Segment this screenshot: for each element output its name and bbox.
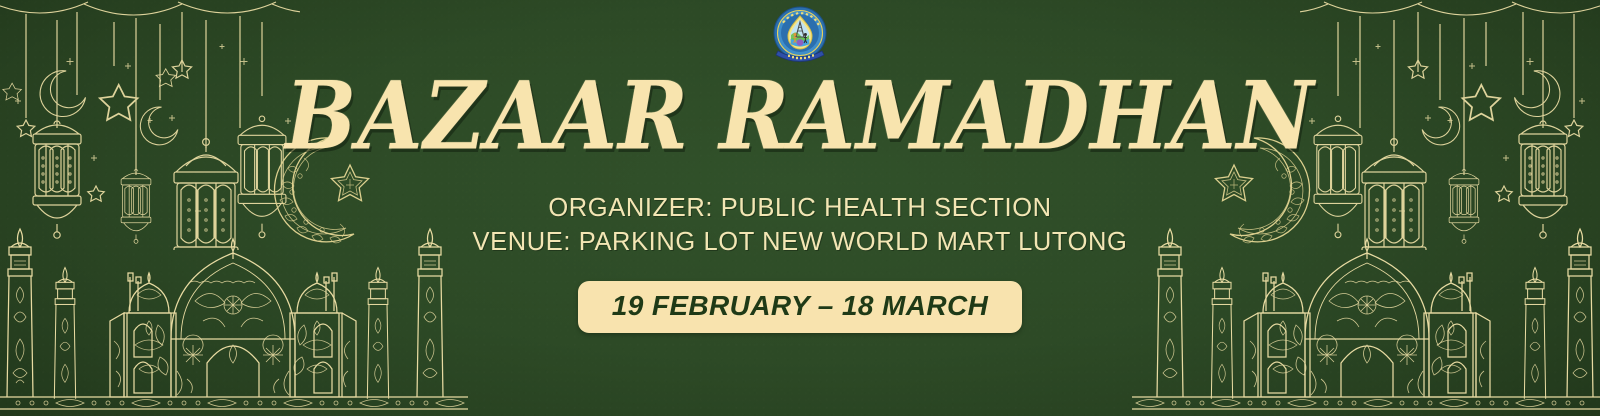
majlis-bandaraya-miri-emblem-icon [766,4,834,66]
date-badge: 19 FEBRUARY – 18 MARCH [578,281,1023,333]
page-title: BAZAAR RAMADHAN [285,69,1314,163]
ramadhan-bazaar-banner: BAZAAR RAMADHAN ORGANIZER: PUBLIC HEALTH… [0,0,1600,416]
venue-line: VENUE: PARKING LOT NEW WORLD MART LUTONG [473,226,1128,260]
organizer-line: ORGANIZER: PUBLIC HEALTH SECTION [473,192,1128,226]
event-details: ORGANIZER: PUBLIC HEALTH SECTION VENUE: … [473,192,1128,260]
banner-content: BAZAAR RAMADHAN ORGANIZER: PUBLIC HEALTH… [0,0,1600,416]
